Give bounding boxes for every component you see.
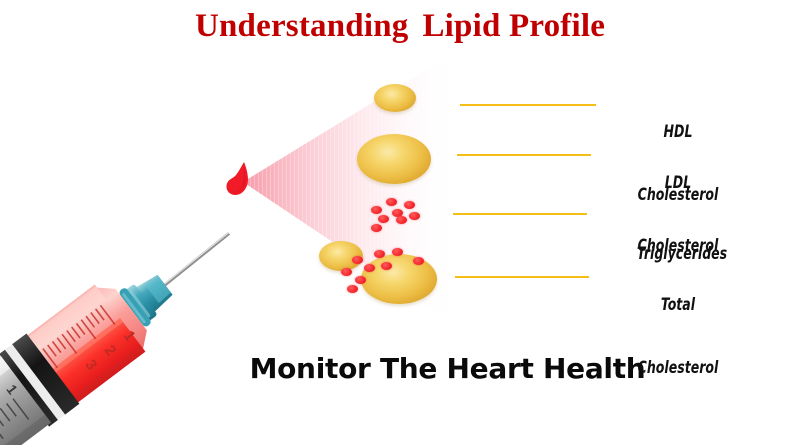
leader-line-triglycerides <box>453 213 587 215</box>
page-title-word-2: Lipid Profile <box>422 8 605 44</box>
leader-line-ldl <box>457 154 591 156</box>
page-title: UnderstandingLipid Profile <box>0 6 800 46</box>
page-title-word-1: Understanding <box>195 8 409 44</box>
syringe-illustration: 1 2 3 <box>0 150 294 445</box>
leader-line-total <box>455 276 589 278</box>
lipid-particle-hdl <box>374 84 416 112</box>
leader-line-hdl <box>460 104 596 106</box>
page-tagline: Monitor The Heart Health <box>0 352 800 385</box>
callout-total-line1: Total <box>612 295 743 316</box>
lipid-particle-ldl <box>357 134 431 184</box>
syringe-needle <box>163 233 230 285</box>
lipid-particle-total-large <box>361 254 437 304</box>
callout-ldl-line1: LDL <box>612 173 743 194</box>
callout-label-total: Total Cholesterol <box>612 253 743 421</box>
infographic-canvas: UnderstandingLipid Profile <box>0 0 800 445</box>
